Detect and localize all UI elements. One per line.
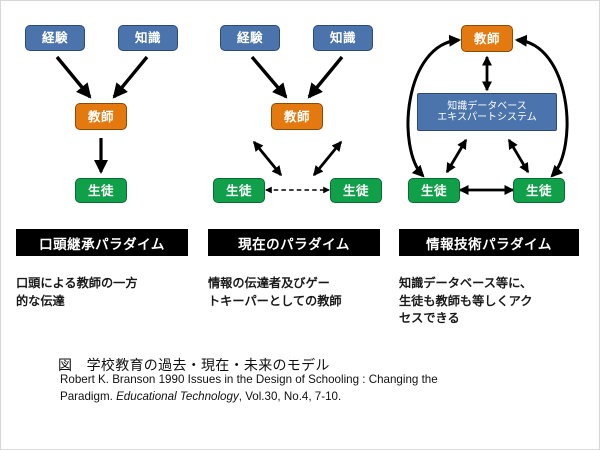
figure-citation: Robert K. Branson 1990 Issues in the Des…	[60, 372, 560, 406]
arrow-knowledge-to-teacher	[114, 57, 147, 97]
paradigm-bar-current: 現在のパラダイム	[208, 229, 380, 256]
description-infotech-line-3: セスできる	[399, 310, 589, 328]
citation-volume-pages: , Vol.30, No.4, 7-10.	[239, 390, 341, 403]
description-oral-line-1: 口頭による教師の一方	[16, 275, 198, 293]
description-oral: 口頭による教師の一方 的な伝達	[16, 275, 198, 310]
description-infotech: 知識データベース等に、 生徒も教師も等しくアク セスできる	[399, 275, 589, 328]
knowledge-database-line-2: エキスパートシステム	[437, 112, 536, 123]
node-experience-current[interactable]: 経験	[220, 25, 280, 51]
arrow-teacher-student-right	[314, 142, 341, 175]
node-student-left-infotech[interactable]: 生徒	[408, 178, 460, 203]
arrow-teacher-student-left	[254, 142, 281, 175]
node-teacher-oral[interactable]: 教師	[75, 103, 127, 130]
node-teacher-current[interactable]: 教師	[271, 103, 323, 130]
paradigm-bar-infotech: 情報技術パラダイム	[399, 229, 579, 256]
node-student-left-current[interactable]: 生徒	[213, 178, 265, 203]
citation-journal-title: Educational Technology	[116, 390, 239, 403]
arrow-experience-to-teacher	[252, 57, 286, 97]
arrow-knowledge-to-teacher	[309, 57, 342, 97]
node-knowledge-current[interactable]: 知識	[313, 25, 373, 51]
description-oral-line-2: 的な伝達	[16, 293, 198, 311]
description-current-line-2: トキーパーとしての教師	[208, 293, 390, 311]
figure-container: 経験 知識 教師 生徒 経験 知識 教師 生徒 生徒 教師 知識データベース エ…	[0, 0, 600, 450]
arrow-experience-to-teacher	[57, 57, 90, 97]
citation-paradigm-text: Paradigm.	[60, 390, 116, 403]
paradigm-bar-oral: 口頭継承パラダイム	[16, 229, 188, 256]
node-experience-oral[interactable]: 経験	[25, 25, 85, 51]
description-infotech-line-2: 生徒も教師も等しくアク	[399, 293, 589, 311]
node-knowledge-database[interactable]: 知識データベース エキスパートシステム	[417, 93, 557, 131]
arrow-database-student-right	[509, 140, 528, 172]
description-current-line-1: 情報の伝達者及びゲー	[208, 275, 390, 293]
node-knowledge-oral[interactable]: 知識	[118, 25, 178, 51]
knowledge-database-line-1: 知識データベース	[447, 101, 527, 112]
node-student-right-current[interactable]: 生徒	[330, 178, 382, 203]
citation-line-1: Robert K. Branson 1990 Issues in the Des…	[60, 372, 560, 389]
node-student-right-infotech[interactable]: 生徒	[513, 178, 565, 203]
citation-line-2: Paradigm. Educational Technology, Vol.30…	[60, 389, 560, 406]
description-infotech-line-1: 知識データベース等に、	[399, 275, 589, 293]
node-student-oral[interactable]: 生徒	[75, 178, 127, 203]
arrow-database-student-left	[447, 140, 466, 172]
description-current: 情報の伝達者及びゲー トキーパーとしての教師	[208, 275, 390, 310]
node-teacher-infotech[interactable]: 教師	[461, 25, 513, 52]
